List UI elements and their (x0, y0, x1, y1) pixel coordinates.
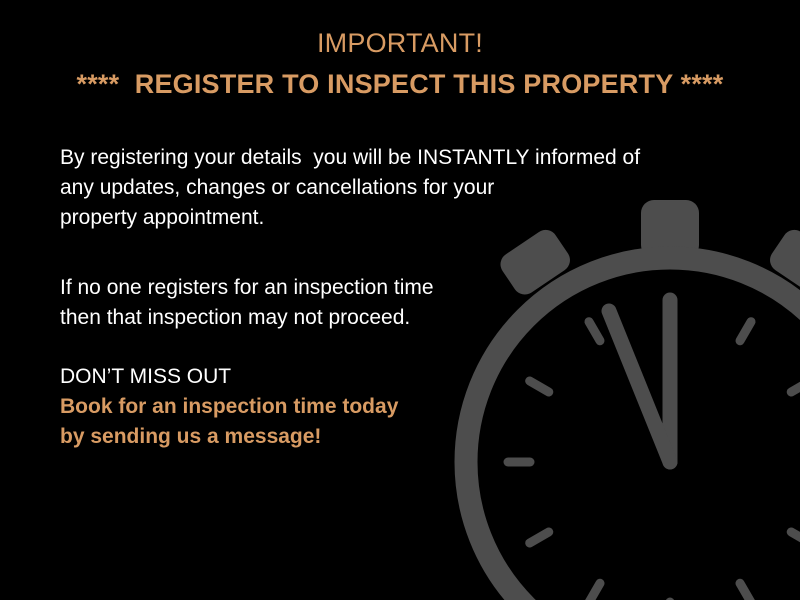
paragraph-line: property appointment. (60, 203, 720, 233)
cta-message-line: by sending us a message! (60, 422, 720, 452)
headline-block: IMPORTANT! **** REGISTER TO INSPECT THIS… (0, 26, 800, 102)
paragraph-line: If no one registers for an inspection ti… (60, 273, 720, 303)
cta-book-line: Book for an inspection time today (60, 392, 720, 422)
paragraph-line: any updates, changes or cancellations fo… (60, 173, 720, 203)
paragraph-line: By registering your details you will be … (60, 143, 720, 173)
promotional-slide: IMPORTANT! **** REGISTER TO INSPECT THIS… (0, 0, 800, 600)
paragraph-registering-details: By registering your details you will be … (60, 143, 720, 233)
call-to-action-block: DON’T MISS OUT Book for an inspection ti… (60, 362, 720, 452)
headline-important: IMPORTANT! (0, 26, 800, 60)
cta-lead-text: DON’T MISS OUT (60, 362, 720, 392)
paragraph-no-registrations: If no one registers for an inspection ti… (60, 273, 720, 333)
paragraph-line: then that inspection may not proceed. (60, 303, 720, 333)
headline-register: **** REGISTER TO INSPECT THIS PROPERTY *… (0, 66, 800, 102)
